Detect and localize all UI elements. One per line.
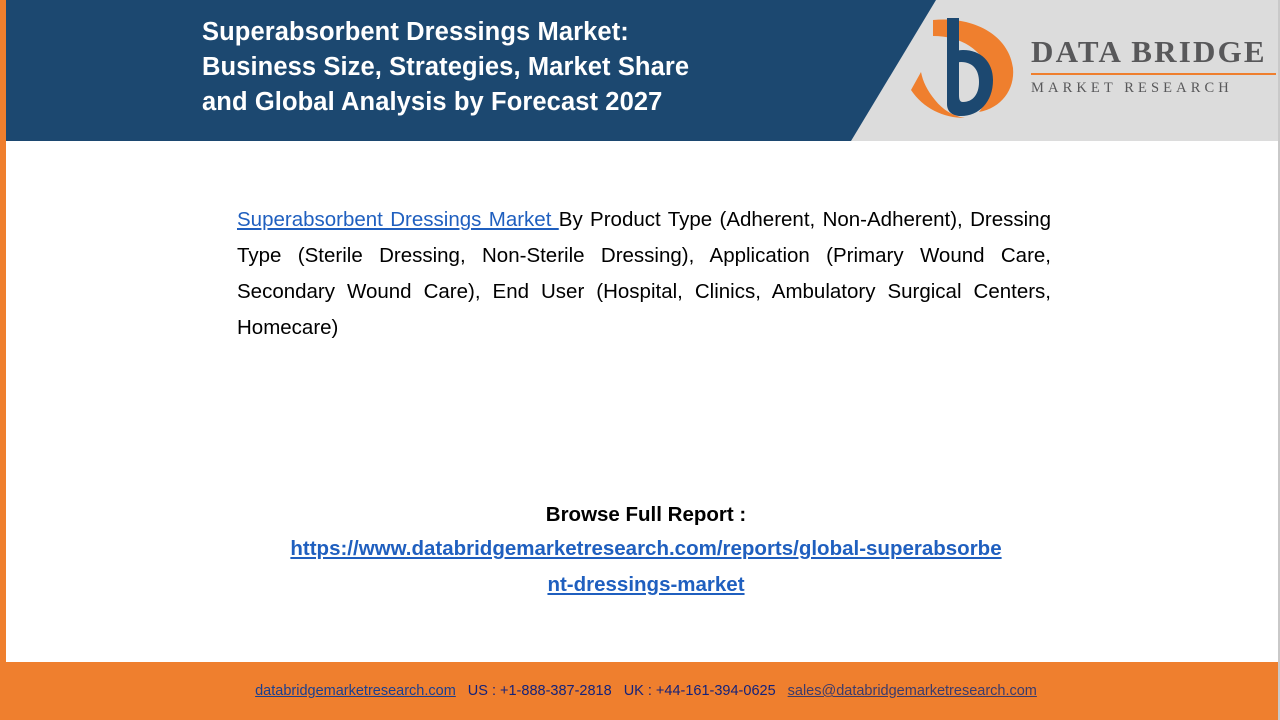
footer-website-link[interactable]: databridgemarketresearch.com [255,683,456,699]
page-title-line-1: Superabsorbent Dressings Market: [202,15,862,50]
brand-tagline: MARKET RESEARCH [1031,80,1280,97]
footer-email-link[interactable]: sales@databridgemarketresearch.com [788,683,1037,699]
market-report-link[interactable]: Superabsorbent Dressings Market [237,208,559,231]
slide: Superabsorbent Dressings Market: Busines… [0,0,1280,720]
footer-uk-phone: UK : +44-161-394-0625 [624,683,776,699]
page-title-line-3: and Global Analysis by Forecast 2027 [202,85,862,120]
footer-us-phone: US : +1-888-387-2818 [468,683,612,699]
brand-logo: DATA BRIDGE MARKET RESEARCH [901,10,1280,130]
slide-header: Superabsorbent Dressings Market: Busines… [6,0,1280,141]
brand-text: DATA BRIDGE MARKET RESEARCH [1031,34,1280,97]
bridge-logo-icon [901,12,1026,124]
report-description: Superabsorbent Dressings Market By Produ… [237,202,1051,346]
slide-footer: databridgemarketresearch.com US : +1-888… [6,662,1280,720]
browse-report-url-link[interactable]: https://www.databridgemarketresearch.com… [286,531,1006,603]
footer-contact-bar: databridgemarketresearch.com US : +1-888… [6,662,1280,720]
page-title-line-2: Business Size, Strategies, Market Share [202,50,862,85]
page-title: Superabsorbent Dressings Market: Busines… [202,15,862,120]
brand-name: DATA BRIDGE [1031,34,1280,70]
browse-label: Browse Full Report : [146,498,1146,531]
brand-divider [1031,73,1276,75]
browse-full-report: Browse Full Report : https://www.databri… [146,498,1146,603]
